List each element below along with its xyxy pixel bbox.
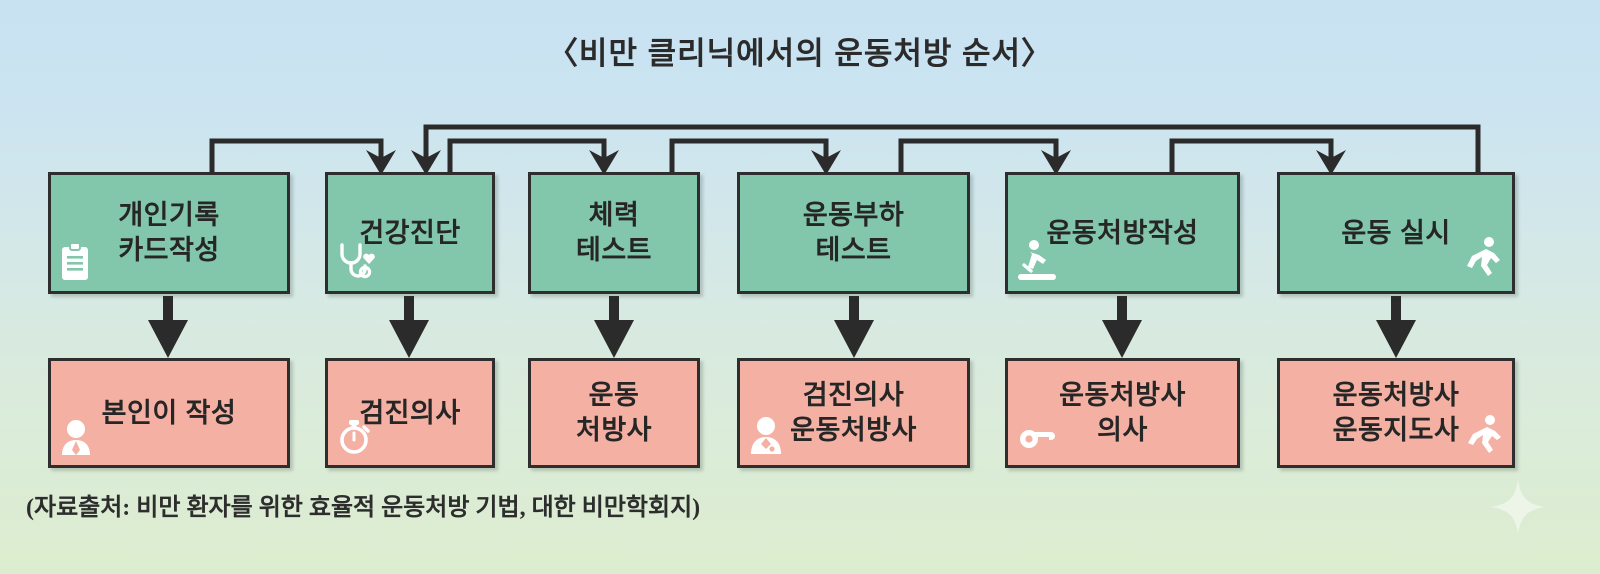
role-label-2: 검진의사: [359, 396, 460, 431]
page-title: 〈비만 클리닉에서의 운동처방 순서〉: [0, 28, 1600, 73]
step-box-1[interactable]: 개인기록 카드작성: [48, 172, 290, 294]
connector-step1-step2: [212, 141, 381, 172]
connector-step2-step3: [450, 141, 604, 172]
arrow-shaft-4: [849, 296, 859, 334]
sparkle-icon: [1489, 478, 1547, 536]
source-caption: (자료출처: 비만 환자를 위한 효율적 운동처방 기법, 대한 비만학회지): [26, 487, 700, 522]
connector-step5-step6: [1172, 141, 1331, 172]
role-label-4: 검진의사 운동처방사: [790, 378, 917, 447]
diagram-canvas: 〈비만 클리닉에서의 운동처방 순서〉: [0, 0, 1600, 574]
whistle-icon: [1018, 424, 1058, 459]
arrow-shaft-1: [163, 296, 173, 334]
arrow-head-2: [389, 320, 429, 358]
role-box-6[interactable]: 운동처방사 운동지도사: [1277, 358, 1515, 468]
arrow-head-5: [1102, 320, 1142, 358]
arrow-shaft-2: [404, 296, 414, 334]
step-label-5: 운동처방작성: [1046, 216, 1198, 251]
role-box-1[interactable]: 본인이 작성: [48, 358, 290, 468]
role-label-6: 운동처방사 운동지도사: [1333, 378, 1460, 447]
step-label-4: 운동부하 테스트: [803, 198, 904, 267]
step-label-1: 개인기록 카드작성: [118, 198, 219, 267]
step-box-3[interactable]: 체력 테스트: [528, 172, 700, 294]
arrow-head-1: [148, 320, 188, 358]
role-label-3: 운동 처방사: [576, 378, 652, 447]
step-label-6: 운동 실시: [1341, 216, 1450, 251]
running-person-icon: [1466, 236, 1504, 285]
step-box-6[interactable]: 운동 실시: [1277, 172, 1515, 294]
role-label-1: 본인이 작성: [102, 396, 237, 431]
arrow-shaft-5: [1117, 296, 1127, 334]
step-label-3: 체력 테스트: [576, 198, 652, 267]
arrow-shaft-3: [609, 296, 619, 334]
arrow-head-4: [834, 320, 874, 358]
arrow-head-6: [1376, 320, 1416, 358]
person-icon: [59, 418, 93, 461]
role-box-5[interactable]: 운동처방사 의사: [1005, 358, 1240, 468]
doctor-icon: [748, 416, 784, 461]
role-box-2[interactable]: 검진의사: [325, 358, 495, 468]
role-box-3[interactable]: 운동 처방사: [528, 358, 700, 468]
connector-step4-step5: [901, 141, 1056, 172]
step-box-4[interactable]: 운동부하 테스트: [737, 172, 970, 294]
running-person-icon: [1468, 414, 1504, 459]
arrow-head-3: [594, 320, 634, 358]
arrow-shaft-6: [1391, 296, 1401, 334]
connector-step2-step6: [426, 127, 1478, 172]
role-box-4[interactable]: 검진의사 운동처방사: [737, 358, 970, 468]
step-box-2[interactable]: 건강진단: [325, 172, 495, 294]
step-to-role-arrows: [148, 296, 1416, 358]
clipboard-icon: [59, 242, 91, 287]
connector-step3-step4: [672, 141, 826, 172]
role-label-5: 운동처방사 의사: [1059, 378, 1186, 447]
step-box-5[interactable]: 운동처방작성: [1005, 172, 1240, 294]
step-label-2: 건강진단: [359, 216, 460, 251]
